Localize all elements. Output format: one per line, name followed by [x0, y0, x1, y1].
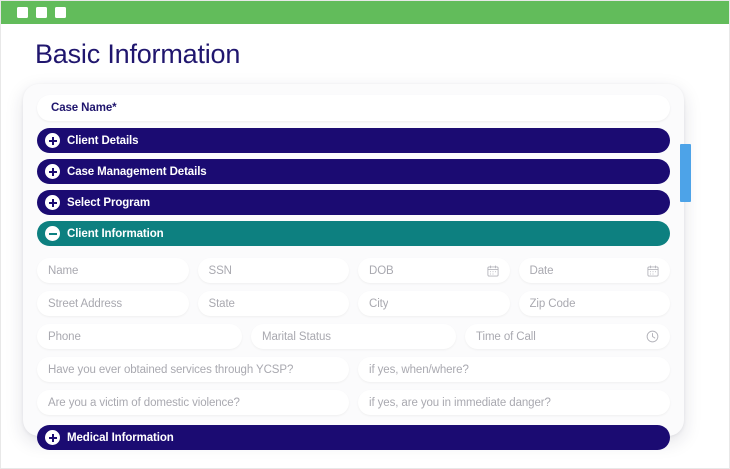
placeholder-text: Street Address — [48, 298, 122, 310]
placeholder-text: if yes, are you in immediate danger? — [369, 397, 551, 409]
placeholder-text: Time of Call — [476, 331, 536, 343]
accordion-select-program[interactable]: Select Program — [37, 190, 670, 215]
window-dot-3[interactable] — [55, 7, 66, 18]
plus-icon — [45, 133, 60, 148]
immediate-danger-input[interactable]: if yes, are you in immediate danger? — [358, 390, 670, 415]
accordion-case-management-details[interactable]: Case Management Details — [37, 159, 670, 184]
accordion-client-information[interactable]: Client Information — [37, 221, 670, 246]
accordion-label: Client Details — [67, 135, 138, 147]
accordion-label: Medical Information — [67, 432, 174, 444]
state-input[interactable]: State — [198, 291, 350, 316]
placeholder-text: DOB — [369, 265, 394, 277]
accordion-label: Select Program — [67, 197, 150, 209]
title-bar — [1, 1, 730, 24]
placeholder-text: City — [369, 298, 388, 310]
form-card-inner: Case Name* Client Details Case Managemen… — [23, 84, 684, 436]
city-input[interactable]: City — [358, 291, 510, 316]
page-title: Basic Information — [35, 39, 240, 70]
placeholder-text: if yes, when/where? — [369, 364, 469, 376]
accordion-label: Client Information — [67, 228, 164, 240]
placeholder-text: Have you ever obtained services through … — [48, 364, 293, 376]
placeholder-text: State — [209, 298, 235, 310]
app-window: Basic Information Case Name* Client Deta… — [0, 0, 730, 469]
client-information-panel: Name SSN DOB — [37, 252, 670, 425]
form-row: Phone Marital Status Time of Call — [37, 324, 670, 349]
placeholder-text: Zip Code — [530, 298, 576, 310]
accordion-medical-information[interactable]: Medical Information — [37, 425, 670, 450]
name-input[interactable]: Name — [37, 258, 189, 283]
placeholder-text: Name — [48, 265, 78, 277]
dob-input[interactable]: DOB — [358, 258, 510, 283]
ssn-input[interactable]: SSN — [198, 258, 350, 283]
window-dot-2[interactable] — [36, 7, 47, 18]
plus-icon — [45, 430, 60, 445]
street-address-input[interactable]: Street Address — [37, 291, 189, 316]
ycsp-when-where-input[interactable]: if yes, when/where? — [358, 357, 670, 382]
plus-icon — [45, 164, 60, 179]
minus-icon — [45, 226, 60, 241]
date-input[interactable]: Date — [519, 258, 671, 283]
form-row: Are you a victim of domestic violence? i… — [37, 390, 670, 415]
placeholder-text: Are you a victim of domestic violence? — [48, 397, 240, 409]
zip-code-input[interactable]: Zip Code — [519, 291, 671, 316]
time-of-call-input[interactable]: Time of Call — [465, 324, 670, 349]
placeholder-text: Marital Status — [262, 331, 331, 343]
form-row: Have you ever obtained services through … — [37, 357, 670, 382]
marital-status-input[interactable]: Marital Status — [251, 324, 456, 349]
case-name-field[interactable]: Case Name* — [37, 95, 670, 121]
placeholder-text: SSN — [209, 265, 232, 277]
phone-input[interactable]: Phone — [37, 324, 242, 349]
window-dot-1[interactable] — [17, 7, 28, 18]
accordion-client-details[interactable]: Client Details — [37, 128, 670, 153]
calendar-icon[interactable] — [487, 265, 499, 277]
placeholder-text: Date — [530, 265, 554, 277]
clock-icon[interactable] — [646, 330, 659, 343]
case-name-label: Case Name* — [51, 102, 117, 114]
form-row: Name SSN DOB — [37, 258, 670, 283]
ycsp-services-input[interactable]: Have you ever obtained services through … — [37, 357, 349, 382]
calendar-icon[interactable] — [647, 265, 659, 277]
form-row: Street Address State City Zip Code — [37, 291, 670, 316]
accordion-label: Case Management Details — [67, 166, 207, 178]
domestic-violence-input[interactable]: Are you a victim of domestic violence? — [37, 390, 349, 415]
form-card: Case Name* Client Details Case Managemen… — [23, 84, 684, 436]
scrollbar-thumb[interactable] — [680, 144, 691, 202]
vertical-scrollbar[interactable] — [680, 144, 691, 204]
page-surface: Basic Information Case Name* Client Deta… — [1, 24, 730, 469]
window-controls — [17, 7, 66, 18]
placeholder-text: Phone — [48, 331, 81, 343]
plus-icon — [45, 195, 60, 210]
